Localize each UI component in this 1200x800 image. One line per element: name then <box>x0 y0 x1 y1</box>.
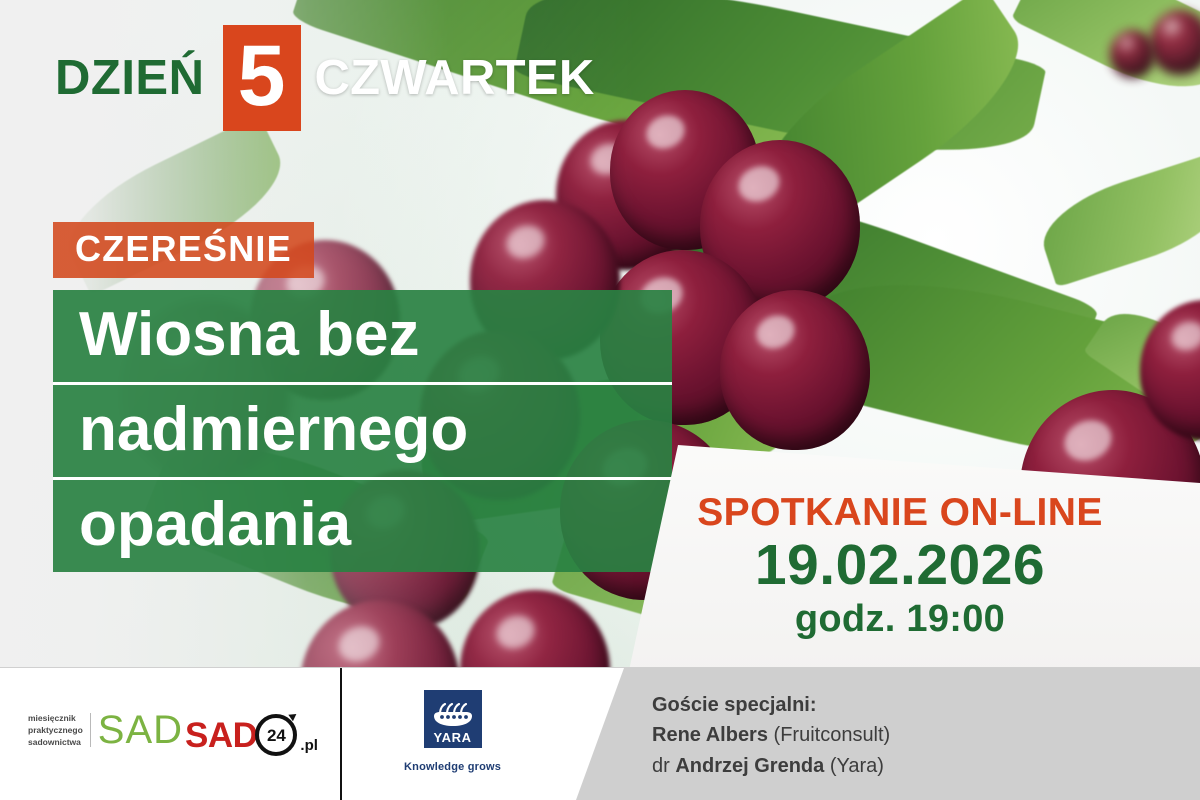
day-header: DZIEŃ 5 CZWARTEK <box>55 25 595 131</box>
bottom-bar-divider <box>340 668 342 800</box>
guest-item: Rene Albers (Fruitconsult) <box>652 720 1200 750</box>
yara-viking-ship-icon: YARA <box>424 690 482 748</box>
sad-magazine-subtitle-line: miesięcznik <box>28 712 83 724</box>
promo-banner: DZIEŃ 5 CZWARTEK CZEREŚNIE Wiosna bez na… <box>0 0 1200 800</box>
sad-magazine-subtitle-line: sadownictwa <box>28 736 83 748</box>
yara-logo: YARA Knowledge grows <box>404 690 501 773</box>
yara-tagline: Knowledge grows <box>404 761 501 773</box>
sad-magazine-subtitle: miesięcznik praktycznego sadownictwa <box>28 712 90 749</box>
title-line: Wiosna bez <box>53 290 672 385</box>
guest-item: dr Andrzej Grenda (Yara) <box>652 751 1200 781</box>
guest-name: Andrzej Grenda <box>675 755 824 777</box>
guest-affiliation: (Fruitconsult) <box>774 724 891 746</box>
logo-divider-rule <box>90 713 91 747</box>
title-block: Wiosna bez nadmiernego opadania <box>53 290 672 572</box>
guest-affiliation: (Yara) <box>830 755 884 777</box>
title-line: opadania <box>53 480 672 572</box>
sad-magazine-logo: miesięcznik praktycznego sadownictwa SAD <box>28 710 183 750</box>
event-kind: SPOTKANIE ON-LINE <box>697 493 1102 534</box>
sad-magazine-wordmark: SAD <box>98 710 183 750</box>
guests-heading: Goście specjalni: <box>652 690 1200 720</box>
cherry-fruit <box>1110 30 1155 78</box>
sad24-logo: SAD 24 .pl <box>185 714 318 756</box>
day-label: DZIEŃ <box>55 54 223 103</box>
guest-prefix: dr <box>652 755 675 777</box>
sad24-suffix: .pl <box>300 737 318 754</box>
bottom-bar: miesięcznik praktycznego sadownictwa SAD… <box>0 667 1200 800</box>
category-badge: CZEREŚNIE <box>53 222 314 278</box>
event-time: godz. 19:00 <box>795 598 1005 642</box>
sad24-circle-arrow-icon: 24 <box>255 714 297 756</box>
yara-name: YARA <box>434 731 472 744</box>
title-line: nadmiernego <box>53 385 672 480</box>
sad24-wordmark: SAD <box>185 718 257 753</box>
cherry-fruit <box>1150 10 1200 75</box>
day-number-badge: 5 <box>223 25 301 131</box>
guests-content: Goście specjalni: Rene Albers (Fruitcons… <box>560 668 1200 800</box>
event-panel-content: SPOTKANIE ON-LINE 19.02.2026 godz. 19:00 <box>600 425 1200 675</box>
event-date: 19.02.2026 <box>755 534 1045 598</box>
guest-name: Rene Albers <box>652 724 768 746</box>
sad-magazine-subtitle-line: praktycznego <box>28 724 83 736</box>
weekday-label: CZWARTEK <box>301 54 595 103</box>
sad24-circle-number: 24 <box>267 727 286 744</box>
